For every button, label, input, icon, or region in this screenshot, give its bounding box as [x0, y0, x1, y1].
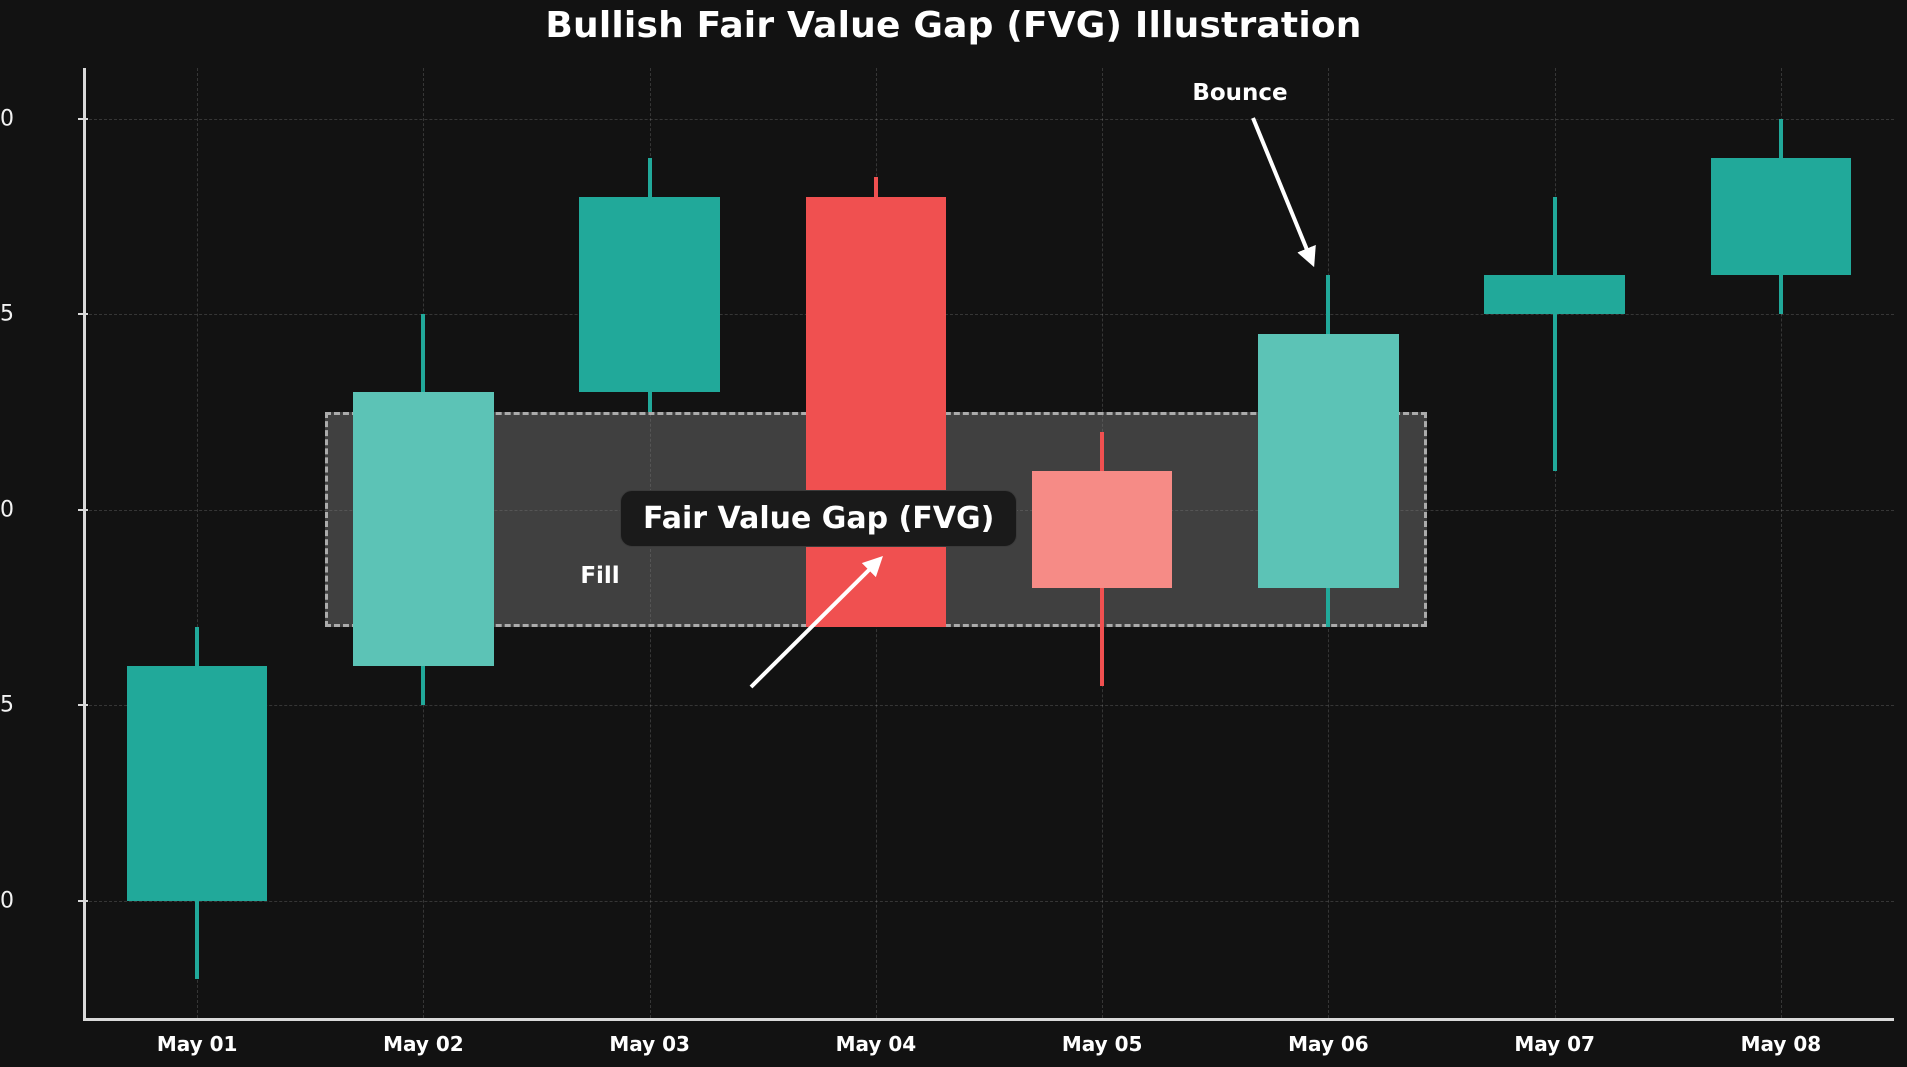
y-axis-tick-label: 1.105 [0, 693, 14, 718]
x-axis-tick-label: May 02 [383, 1032, 464, 1056]
candle-body [127, 666, 267, 901]
candle-body [1711, 158, 1851, 275]
y-axis-tick-mark [78, 118, 88, 120]
candlestick[interactable] [1484, 68, 1624, 1018]
candlestick[interactable] [1032, 68, 1172, 1018]
fill-annotation-label: Fill [580, 563, 619, 589]
candle-body [1484, 275, 1624, 314]
chart-canvas: Bullish Fair Value Gap (FVG) Illustratio… [0, 0, 1907, 1067]
candle-body [579, 197, 719, 392]
y-axis-tick-mark [78, 704, 88, 706]
y-axis-tick-label: 1.115 [0, 302, 14, 327]
x-axis-tick-label: May 08 [1741, 1032, 1822, 1056]
y-axis-tick-mark [78, 900, 88, 902]
x-axis-spine [83, 1018, 1894, 1021]
y-axis-tick-label: 1.120 [0, 106, 14, 131]
x-axis-tick-label: May 03 [609, 1032, 690, 1056]
page-title: Bullish Fair Value Gap (FVG) Illustratio… [0, 5, 1907, 46]
x-axis-tick-label: May 04 [836, 1032, 917, 1056]
y-axis-tick-mark [78, 313, 88, 315]
x-axis-tick-label: May 05 [1062, 1032, 1143, 1056]
candle-body [353, 392, 493, 666]
candlestick[interactable] [1711, 68, 1851, 1018]
y-axis-tick-label: 1.100 [0, 888, 14, 913]
bounce-annotation-label: Bounce [1192, 80, 1287, 106]
candle-wick [1553, 197, 1557, 471]
candle-body [1032, 471, 1172, 588]
x-axis-tick-label: May 01 [157, 1032, 238, 1056]
candle-body [1258, 334, 1398, 588]
candlestick[interactable] [1258, 68, 1398, 1018]
y-axis-tick-mark [78, 509, 88, 511]
candlestick[interactable] [127, 68, 267, 1018]
candle-body [806, 197, 946, 627]
y-axis-tick-label: 1.110 [0, 497, 14, 522]
x-axis-tick-label: May 06 [1288, 1032, 1369, 1056]
x-axis-tick-label: May 07 [1514, 1032, 1595, 1056]
fvg-callout-label: Fair Value Gap (FVG) [620, 490, 1017, 547]
candlestick[interactable] [353, 68, 493, 1018]
